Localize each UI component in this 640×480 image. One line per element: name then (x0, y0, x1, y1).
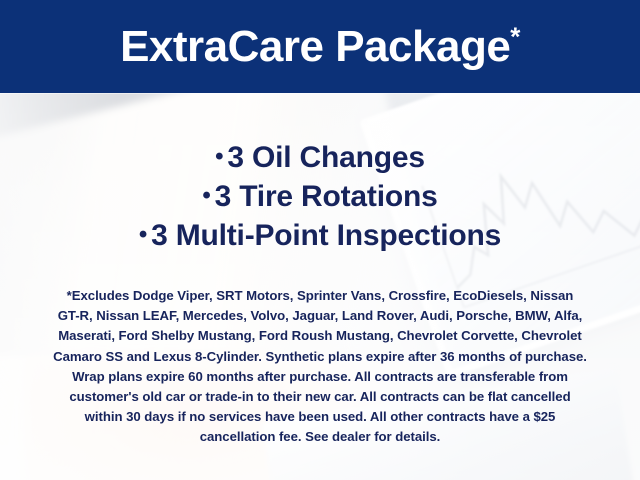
disclaimer-text: *Excludes Dodge Viper, SRT Motors, Sprin… (28, 286, 612, 448)
header-banner: ExtraCare Package* (0, 0, 640, 93)
disclaimer-line: cancellation fee. See dealer for details… (28, 427, 612, 447)
list-item: •3 Tire Rotations (0, 177, 640, 216)
page-title-text: ExtraCare Package (120, 22, 510, 71)
disclaimer-line: Maserati, Ford Shelby Mustang, Ford Rous… (28, 326, 612, 346)
disclaimer-line: Camaro SS and Lexus 8-Cylinder. Syntheti… (28, 347, 612, 367)
list-item-label: 3 Oil Changes (227, 141, 424, 174)
disclaimer-line: Wrap plans expire 60 months after purcha… (28, 367, 612, 387)
bullet-dot-icon: • (215, 143, 223, 170)
disclaimer-line: customer's old car or trade-in to their … (28, 387, 612, 407)
bullet-dot-icon: • (202, 182, 210, 209)
bullet-dot-icon: • (139, 221, 147, 248)
benefits-list: •3 Oil Changes •3 Tire Rotations •3 Mult… (0, 138, 640, 255)
list-item-label: 3 Multi-Point Inspections (151, 219, 501, 252)
list-item-label: 3 Tire Rotations (215, 180, 438, 213)
disclaimer-line: *Excludes Dodge Viper, SRT Motors, Sprin… (28, 286, 612, 306)
disclaimer-line: GT-R, Nissan LEAF, Mercedes, Volvo, Jagu… (28, 306, 612, 326)
page-title: ExtraCare Package* (120, 25, 520, 69)
list-item: •3 Oil Changes (0, 138, 640, 177)
extracare-package-ad: ExtraCare Package* •3 Oil Changes •3 Tir… (0, 0, 640, 480)
asterisk-marker: * (510, 21, 520, 51)
list-item: •3 Multi-Point Inspections (0, 216, 640, 255)
disclaimer-line: within 30 days if no services have been … (28, 407, 612, 427)
